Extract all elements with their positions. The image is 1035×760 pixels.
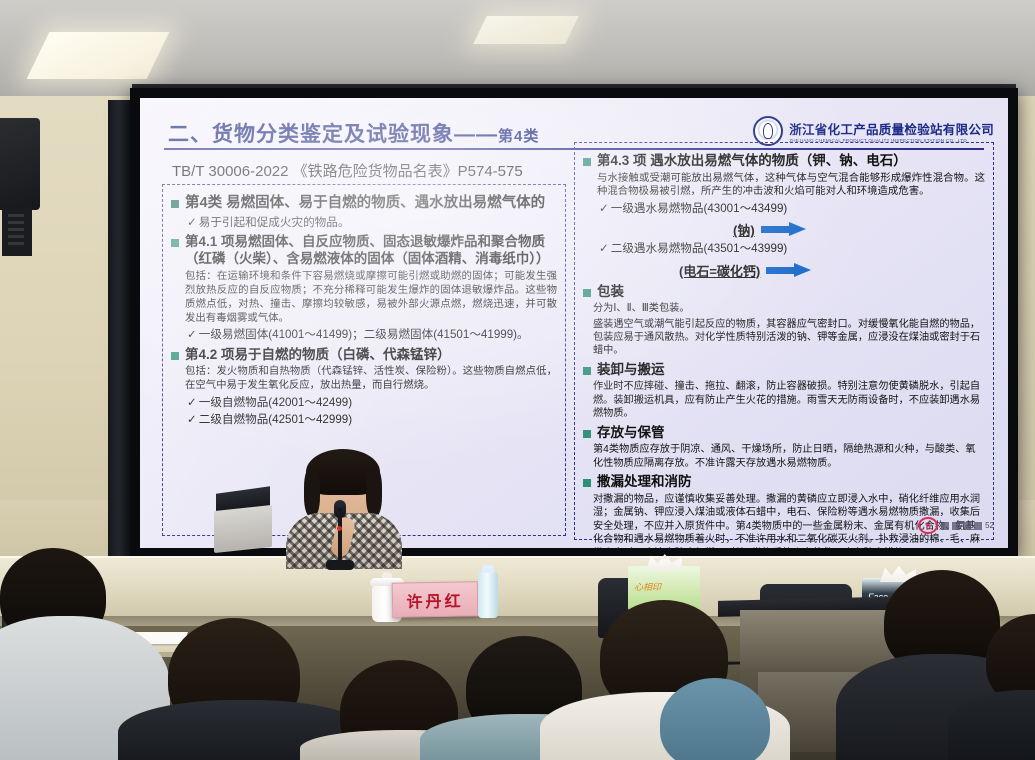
presenter-name-tag: 许丹红 <box>392 581 479 617</box>
item-42-title: 第4.2 项易于自燃的物质（白磷、代森锰锌） <box>185 346 451 364</box>
handling-title: 装卸与搬运 <box>597 361 665 379</box>
slide-title-suffix: 第4类 <box>498 128 539 145</box>
slide-page-number: 52 <box>985 521 994 530</box>
bullet-class4-heading: 第4类 易燃固体、易于自燃的物质、遇水放出易燃气体的 <box>171 194 557 213</box>
item-42-code2: 二级自燃物品(42501～42999) <box>187 412 557 427</box>
bullet-handling: 装卸与搬运 <box>583 361 985 379</box>
arrow-right-icon <box>766 263 812 278</box>
tissue-box-green-label: 心相印 <box>634 580 661 593</box>
presentation-slide: 二、货物分类鉴定及试验现象——第4类 浙江省化工产品质量检验站有限公司 ZHEJ… <box>140 98 1008 548</box>
audience-head <box>660 678 770 760</box>
wall-speaker <box>0 118 40 210</box>
annotation-carbide-label: (电石=碳化钙) <box>679 261 760 280</box>
standard-reference: TB/T 30006-2022 《铁路危险货物品名表》P574-575 <box>172 160 523 181</box>
item-43-title: 第4.3 项 遇水放出易燃气体的物质（钾、钠、电石） <box>597 152 907 170</box>
slide-title: 二、货物分类鉴定及试验现象——第4类 <box>168 118 539 148</box>
bullet-item-42: 第4.2 项易于自燃的物质（白磷、代森锰锌） <box>171 346 557 364</box>
bullet-square-icon <box>583 367 591 375</box>
annotation-sodium-label: (钠) <box>733 220 755 239</box>
spill-title: 撒漏处理和消防 <box>597 473 692 491</box>
bullet-square-icon <box>171 352 179 360</box>
ceiling-light-panel <box>27 32 170 79</box>
slide-title-main: 二、货物分类鉴定及试验现象—— <box>168 123 498 146</box>
bullet-square-icon <box>171 200 179 208</box>
annotation-stamp-icon[interactable]: 5 <box>918 517 938 534</box>
microphone-base <box>326 560 354 570</box>
wall-speaker-mount <box>2 208 32 256</box>
logo-name-cn: 浙江省化工产品质量检验站有限公司 <box>789 119 994 138</box>
packaging-line1: 分为Ⅰ、Ⅱ、Ⅲ类包装。 <box>593 302 985 315</box>
microphone-led-icon <box>337 526 342 531</box>
item-42-code1: 一级自燃物品(42001～42499) <box>187 395 557 410</box>
item-41-codes: 一级易燃固体(41001～41499)；二级易燃固体(41501～41999)。 <box>187 327 557 342</box>
annotation-carbide: (电石=碳化钙) <box>679 261 985 280</box>
class4-heading-text: 第4类 易燃固体、易于自燃的物质、遇水放出易燃气体的 <box>185 194 545 213</box>
bullet-square-icon <box>583 430 591 438</box>
presenter-name-text: 许丹红 <box>406 587 463 612</box>
storage-title: 存放与保管 <box>597 424 665 442</box>
bullet-item-43: 第4.3 项 遇水放出易燃气体的物质（钾、钠、电石） <box>583 152 985 170</box>
class4-heading-check: 易于引起和促成火灾的物品。 <box>187 215 557 230</box>
classroom-scene: 二、货物分类鉴定及试验现象——第4类 浙江省化工产品质量检验站有限公司 ZHEJ… <box>0 0 1035 760</box>
item-43-code2: 二级遇水易燃物品(43501～43999) <box>599 241 985 256</box>
item-42-detail: 包括：发火物质和自热物质（代森锰锌、活性炭、保险粉）。这些物质自燃点低，在空气中… <box>185 365 557 393</box>
laptop <box>214 505 272 553</box>
bullet-square-icon <box>583 479 591 487</box>
arrow-right-icon <box>761 222 807 237</box>
bullet-square-icon <box>583 158 591 166</box>
packaging-line2: 盛装遇空气或潮气能引起反应的物质，其容器应气密封口。对缓慢氧化能自燃的物品，包装… <box>593 318 985 358</box>
fullscreen-icon[interactable] <box>974 522 982 530</box>
storage-text: 第4类物质应存放于阴凉、通风、干燥场所，防止日晒，隔绝热源和火种，与酸类、氧化性… <box>593 443 985 470</box>
bullet-square-icon <box>171 239 179 247</box>
microphone <box>334 500 346 566</box>
bullet-item-41: 第4.1 项易燃固体、自反应物质、固态退敏爆炸品和聚合物质（红磷（火柴）、含易燃… <box>171 233 557 268</box>
annotation-sodium: (钠) <box>733 220 985 239</box>
presenter-hair-right <box>366 467 382 517</box>
ceiling-light-panel-secondary <box>473 16 579 44</box>
wall-trim-left <box>108 100 130 570</box>
slide-right-column: 第4.3 项 遇水放出易燃气体的物质（钾、钠、电石） 与水接触或受潮可能放出易燃… <box>574 142 994 540</box>
packaging-title: 包装 <box>597 283 624 301</box>
bullet-packaging: 包装 <box>583 283 985 301</box>
bullet-spill: 撒漏处理和消防 <box>583 473 985 491</box>
handling-text: 作业时不应摔碰、撞击、拖拉、翻滚，防止容器破损。特别注意勿使黄磷脱水，引起自燃。… <box>593 380 985 420</box>
microphone-stem <box>338 508 342 566</box>
pen-icon[interactable] <box>941 522 949 530</box>
item-41-detail: 包括：在运输环境和条件下容易燃烧或摩擦可能引燃或助燃的固体；可能发生强烈放热反应… <box>185 270 557 326</box>
bullet-storage: 存放与保管 <box>583 424 985 442</box>
slideshow-toolbar[interactable]: 5 52 <box>918 517 994 534</box>
bullet-square-icon <box>583 289 591 297</box>
presenter-hair-left <box>304 467 320 517</box>
water-bottle <box>478 572 498 618</box>
slide-menu-icon[interactable] <box>963 522 971 530</box>
item-43-detail: 与水接触或受潮可能放出易燃气体，这种气体与空气混合能够形成爆炸性混合物。这种混合… <box>597 172 985 200</box>
pointer-icon[interactable] <box>952 522 960 530</box>
item-43-code1: 一级遇水易燃物品(43001～43499) <box>599 201 985 216</box>
item-41-title: 第4.1 项易燃固体、自反应物质、固态退敏爆炸品和聚合物质（红磷（火柴）、含易燃… <box>185 233 557 268</box>
